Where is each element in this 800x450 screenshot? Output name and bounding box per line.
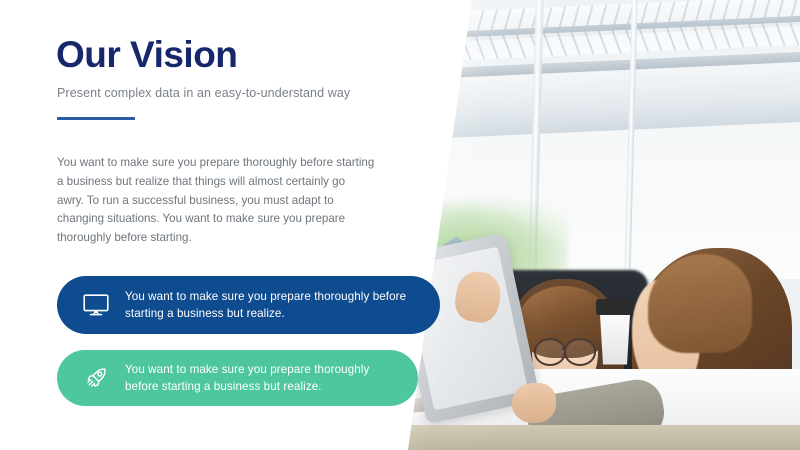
photo-stage — [400, 0, 800, 450]
feature-pill-text: You want to make sure you prepare thorou… — [125, 288, 440, 323]
woman-a-eyebrow-right — [566, 331, 588, 333]
coffee-cup — [600, 315, 630, 365]
woman-b-hand-lower — [512, 383, 556, 424]
coffee-cup-lid — [596, 299, 632, 315]
desk-edge — [400, 425, 800, 450]
title-underline-rule — [57, 117, 135, 120]
hero-photo — [400, 0, 800, 450]
eyeglass-lens-right — [564, 338, 596, 365]
page-title: Our Vision — [56, 36, 237, 75]
woman-a-eyebrow-left — [538, 331, 560, 333]
page-subtitle: Present complex data in an easy-to-under… — [57, 86, 350, 100]
slide-canvas: Our Vision Present complex data in an ea… — [0, 0, 800, 450]
feature-pill-text: You want to make sure you prepare thorou… — [125, 361, 418, 396]
eyeglass-lens-left — [534, 338, 566, 365]
body-paragraph: You want to make sure you prepare thorou… — [57, 154, 375, 248]
woman-b-hair-front — [648, 254, 752, 353]
feature-pill-rocket[interactable]: You want to make sure you prepare thorou… — [57, 350, 418, 406]
eyeglass-bridge — [562, 348, 565, 350]
rocket-icon — [67, 365, 125, 391]
monitor-icon — [67, 294, 125, 316]
feature-pill-monitor[interactable]: You want to make sure you prepare thorou… — [57, 276, 440, 334]
